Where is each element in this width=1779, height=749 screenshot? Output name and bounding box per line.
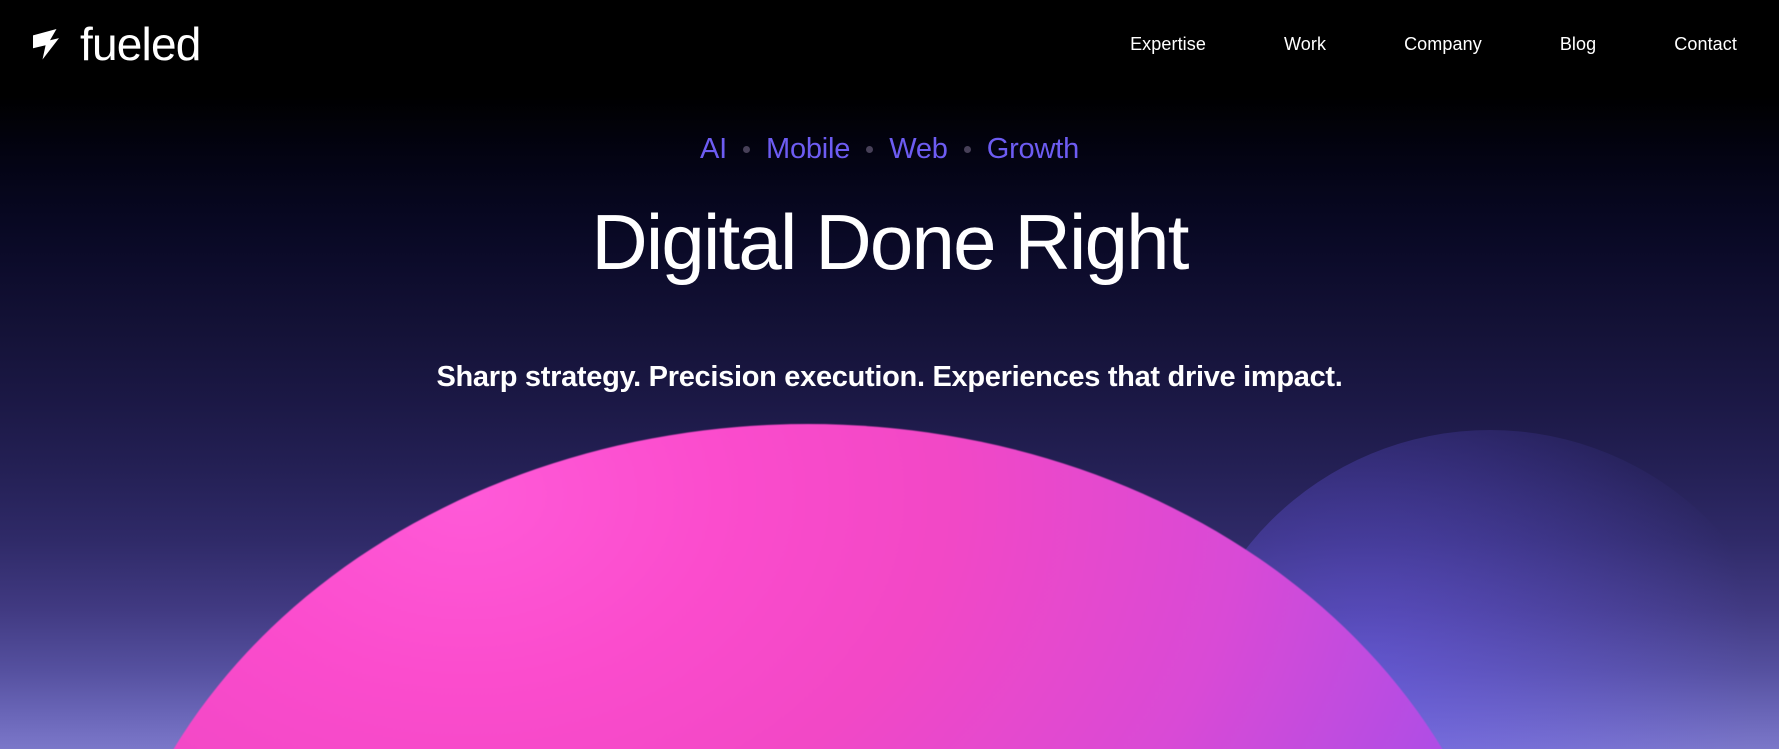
- hero-headline: Digital Done Right: [0, 203, 1779, 281]
- lightning-bolt-icon: [26, 27, 66, 61]
- main-nav: Expertise Work Company Blog Contact: [1130, 24, 1779, 65]
- nav-item-company[interactable]: Company: [1404, 24, 1482, 65]
- nav-item-contact[interactable]: Contact: [1674, 24, 1737, 65]
- hero-kicker-list: AI Mobile Web Growth: [0, 135, 1779, 164]
- gradient-orb: [98, 424, 1518, 749]
- orb-glow: [1180, 430, 1779, 749]
- kicker-item-web[interactable]: Web: [889, 135, 948, 164]
- kicker-item-mobile[interactable]: Mobile: [766, 135, 850, 164]
- kicker-item-growth[interactable]: Growth: [987, 135, 1079, 164]
- nav-item-blog[interactable]: Blog: [1560, 24, 1596, 65]
- brand-logo-link[interactable]: fueled: [26, 21, 201, 67]
- hero-page: fueled Expertise Work Company Blog Conta…: [0, 0, 1779, 749]
- brand-name: fueled: [80, 21, 201, 67]
- dot-separator-icon: [964, 146, 971, 153]
- nav-item-expertise[interactable]: Expertise: [1130, 24, 1206, 65]
- orb-container: [0, 0, 1779, 749]
- kicker-item-ai[interactable]: AI: [700, 135, 727, 164]
- nav-item-work[interactable]: Work: [1284, 24, 1326, 65]
- dot-separator-icon: [743, 146, 750, 153]
- site-header: fueled Expertise Work Company Blog Conta…: [0, 0, 1779, 88]
- hero-subheadline: Sharp strategy. Precision execution. Exp…: [0, 360, 1779, 395]
- dot-separator-icon: [866, 146, 873, 153]
